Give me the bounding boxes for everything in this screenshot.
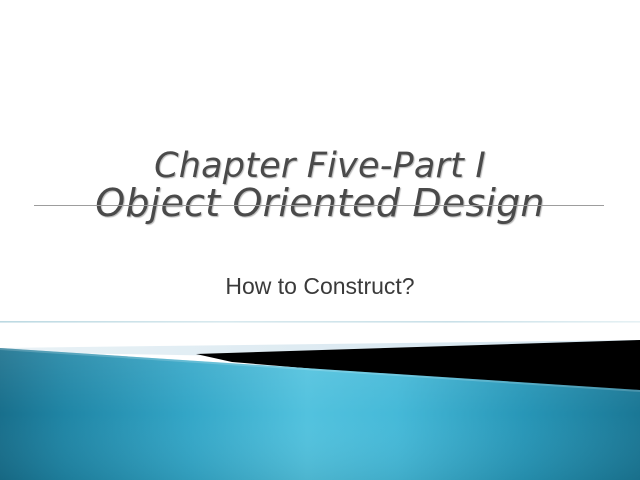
banner-graphic [0,318,640,480]
title-line-1: Chapter Five-Part I [0,148,640,184]
title-line-2: Object Oriented Design [0,184,640,223]
decorative-banner [0,318,640,480]
title-underline-rule [34,205,604,206]
page-title: Chapter Five-Part I Object Oriented Desi… [0,148,640,223]
banner-divider-line [0,321,640,323]
slide-canvas: Chapter Five-Part I Object Oriented Desi… [0,0,640,480]
subtitle-text: How to Construct? [0,273,640,300]
